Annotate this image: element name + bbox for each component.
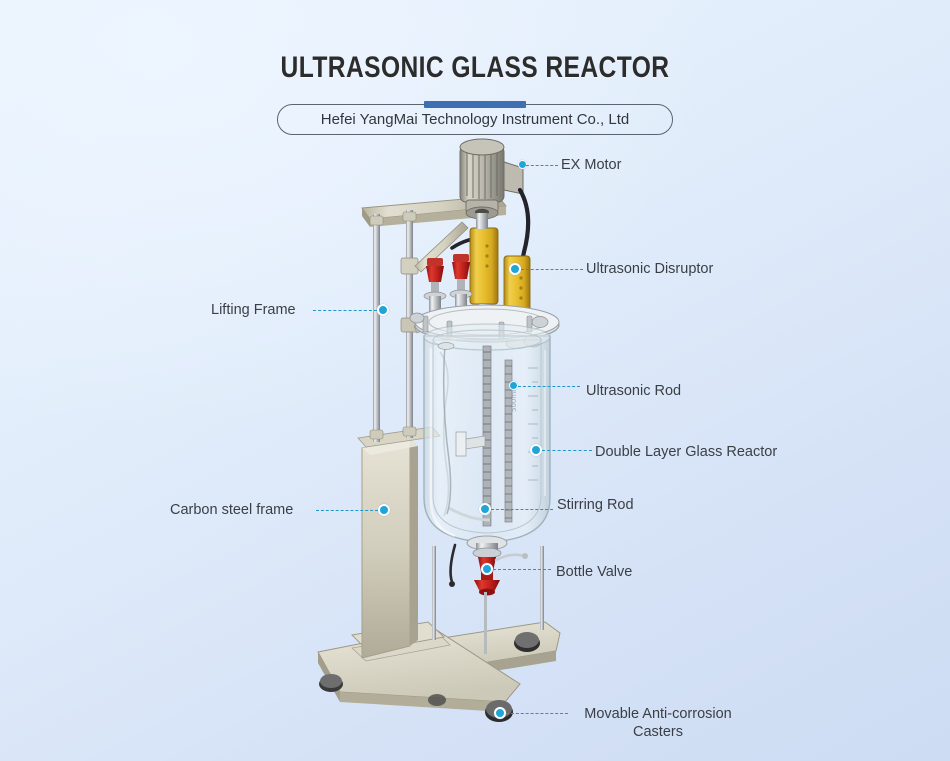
reactor-illustration: 500ml bbox=[0, 0, 950, 761]
callout-line-carbon-steel-frame bbox=[316, 510, 378, 511]
callout-line-bottle-valve bbox=[493, 569, 551, 570]
callout-label-lifting-frame: Lifting Frame bbox=[211, 302, 296, 318]
carbon-steel-column bbox=[362, 440, 418, 658]
callout-line-double-layer-glass-reactor bbox=[542, 450, 592, 451]
callout-line-movable-casters bbox=[506, 713, 568, 714]
callout-dot-lifting-frame bbox=[377, 304, 389, 316]
product-diagram-page: ULTRASONIC GLASS REACTOR Hefei YangMai T… bbox=[0, 0, 950, 761]
callout-dot-ultrasonic-disruptor bbox=[509, 263, 521, 275]
lid-valve-b bbox=[452, 254, 470, 292]
callout-label-movable-casters: Movable Anti-corrosion Casters bbox=[572, 705, 744, 741]
callout-dot-ultrasonic-rod bbox=[509, 381, 518, 390]
callout-line-ultrasonic-disruptor bbox=[521, 269, 583, 270]
callout-line-stirring-rod bbox=[491, 509, 553, 510]
callout-line-ultrasonic-rod bbox=[518, 386, 580, 387]
callout-line-ex-motor bbox=[526, 165, 558, 166]
callout-label-ultrasonic-rod: Ultrasonic Rod bbox=[586, 383, 681, 399]
callout-dot-stirring-rod bbox=[479, 503, 491, 515]
callout-label-double-layer-glass-reactor: Double Layer Glass Reactor bbox=[595, 444, 777, 460]
callout-line-lifting-frame bbox=[313, 310, 377, 311]
callout-label-bottle-valve: Bottle Valve bbox=[556, 564, 632, 580]
callout-dot-movable-casters bbox=[494, 707, 506, 719]
callout-label-ultrasonic-disruptor: Ultrasonic Disruptor bbox=[586, 261, 713, 277]
callout-label-ex-motor: EX Motor bbox=[561, 157, 621, 173]
callout-label-carbon-steel-frame: Carbon steel frame bbox=[170, 502, 293, 518]
callout-dot-carbon-steel-frame bbox=[378, 504, 390, 516]
callout-label-stirring-rod: Stirring Rod bbox=[557, 497, 634, 513]
callout-dot-double-layer-glass-reactor bbox=[530, 444, 542, 456]
callout-dot-bottle-valve bbox=[481, 563, 493, 575]
lid-valve-a bbox=[426, 258, 444, 294]
